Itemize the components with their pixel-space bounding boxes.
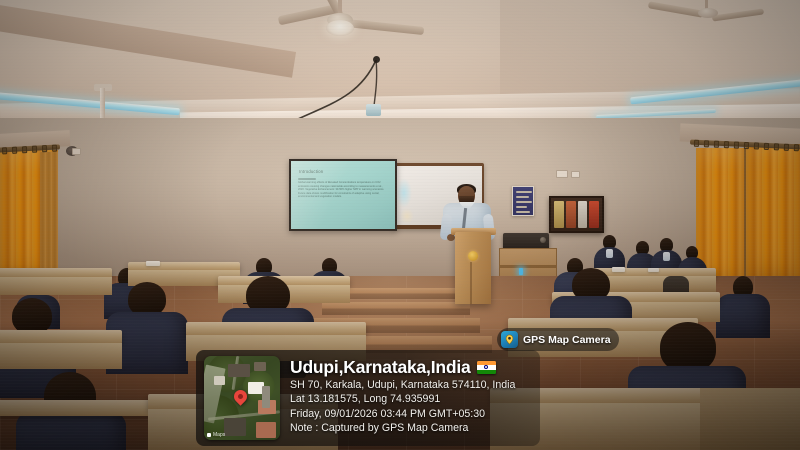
wall-notice-board <box>549 196 604 233</box>
notice-poster <box>589 201 599 228</box>
wall-socket <box>571 171 580 178</box>
cable-junction-box <box>366 104 381 116</box>
curtain-right-outer <box>746 144 800 294</box>
capture-datetime: Friday, 09/01/2026 03:44 PM GMT+05:30 <box>290 407 515 421</box>
whiteboard-glare <box>396 178 412 208</box>
location-pin-icon <box>501 331 518 348</box>
podium-emblem <box>468 251 478 261</box>
gps-caption-text: Udupi,Karnataka,India SH 70, Karkala, Ud… <box>290 356 515 436</box>
location-coordinates: Lat 13.181575, Long 74.935991 <box>290 392 515 406</box>
wall-poster <box>512 186 534 216</box>
map-watermark-label: Maps <box>213 432 225 438</box>
student-shirt <box>606 249 613 258</box>
amplifier-knob <box>540 237 546 243</box>
desk-surface <box>0 400 160 416</box>
student-head <box>12 298 52 334</box>
notice-poster <box>554 201 564 228</box>
projection-screen-sheen <box>291 161 395 229</box>
podium-seam <box>470 262 472 304</box>
map-watermark: Maps <box>207 432 225 438</box>
student-shirt <box>663 252 670 261</box>
notice-poster <box>578 201 588 228</box>
desk-front-panel <box>592 276 716 292</box>
whiteboard-glare <box>400 208 414 224</box>
paper-sheet <box>612 267 625 272</box>
student-head <box>128 282 166 316</box>
presenter-hand <box>447 234 455 241</box>
amplifier-led <box>519 268 523 275</box>
desk-front-panel <box>0 343 122 369</box>
map-pin-icon <box>231 387 249 405</box>
shelf-divider <box>500 265 556 268</box>
wall-socket <box>72 148 81 155</box>
desk-surface <box>186 322 366 336</box>
capture-note: Note : Captured by GPS Map Camera <box>290 421 515 435</box>
paper-sheet <box>146 261 160 266</box>
gps-map-camera-photo: Introduction Global warming effects of E… <box>0 0 800 450</box>
desk-surface <box>0 330 122 344</box>
student-body <box>716 294 770 338</box>
location-address: SH 70, Karkala, Udupi, Karnataka 574110,… <box>290 378 515 392</box>
india-flag-icon <box>477 361 496 374</box>
gps-title-row: Udupi,Karnataka,India <box>290 357 515 378</box>
student-head <box>660 322 716 372</box>
wooden-podium <box>455 232 491 304</box>
desk-front-panel <box>0 277 112 295</box>
map-thumbnail[interactable]: Maps <box>204 356 280 440</box>
gps-map-camera-badge[interactable]: GPS Map Camera <box>497 328 619 351</box>
gps-badge-label: GPS Map Camera <box>523 334 611 346</box>
wall-socket <box>556 170 568 178</box>
student-body <box>16 412 126 450</box>
paper-sheet <box>648 268 659 272</box>
notice-poster <box>566 201 576 228</box>
desk-side-panel <box>700 388 800 450</box>
location-title: Udupi,Karnataka,India <box>290 357 471 378</box>
gps-caption-panel: Maps Udupi,Karnataka,India SH 70, Karkal… <box>196 350 540 446</box>
